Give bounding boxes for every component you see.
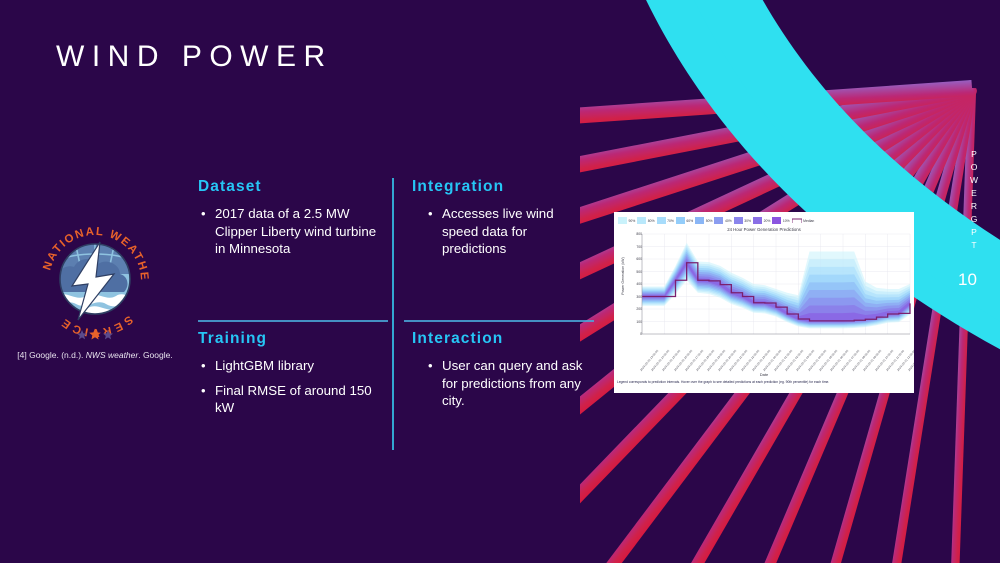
logo-citation-caption: [4] Google. (n.d.). NWS weather. Google. — [14, 349, 176, 361]
legend-swatch — [753, 217, 762, 224]
brand-letter: O — [966, 161, 982, 174]
quadrant-heading-integration: Integration — [412, 178, 590, 196]
median-line-icon — [792, 218, 802, 224]
bullet-list-dataset: • 2017 data of a 2.5 MW Clipper Liberty … — [198, 205, 384, 258]
chart-y-tick: 800 — [616, 232, 642, 236]
legend-swatch — [637, 217, 646, 224]
quadrant-interaction: Interaction • User can query and ask for… — [404, 330, 590, 417]
chart-y-tick: 600 — [616, 257, 642, 261]
horizontal-divider-left — [198, 320, 388, 322]
list-item: • Accesses live wind speed data for pred… — [404, 205, 590, 258]
vertical-divider — [392, 178, 394, 450]
chart-legend: 90%80%70%60%50%40%30%20%10%Median — [618, 215, 910, 226]
brand-letter: T — [966, 239, 982, 252]
brand-letter: G — [966, 213, 982, 226]
chart-y-tick: 500 — [616, 270, 642, 274]
legend-label: Median — [803, 219, 814, 223]
chart-y-tick: 0 — [616, 332, 642, 336]
legend-item: 80% — [637, 217, 654, 224]
legend-item: 10% — [772, 217, 789, 224]
legend-label: 30% — [744, 219, 751, 223]
quadrant-heading-dataset: Dataset — [198, 178, 384, 196]
bullet-icon: • — [428, 205, 433, 223]
bullet-text: LightGBM library — [215, 358, 314, 373]
slide-canvas: P O W E R G P T 10 WIND POWER — [0, 0, 1000, 563]
legend-label: 50% — [706, 219, 713, 223]
bullet-list-training: • LightGBM library • Final RMSE of aroun… — [198, 357, 384, 417]
list-item: • LightGBM library — [198, 357, 384, 375]
bullet-icon: • — [201, 205, 206, 223]
legend-swatch — [714, 217, 723, 224]
legend-item: 70% — [657, 217, 674, 224]
chart-y-tick: 400 — [616, 282, 642, 286]
bullet-icon: • — [201, 382, 206, 400]
brand-letter: R — [966, 200, 982, 213]
bullet-icon: • — [428, 357, 433, 375]
legend-item: 90% — [618, 217, 635, 224]
bullet-text: Final RMSE of around 150 kW — [215, 383, 372, 416]
quadrant-heading-interaction: Interaction — [412, 330, 590, 348]
legend-swatch — [618, 217, 627, 224]
nws-logo-block: NATIONAL WEATHER SERVICE [4] Google. (n.… — [14, 222, 176, 361]
legend-item: 20% — [753, 217, 770, 224]
brand-letter: W — [966, 174, 982, 187]
bullet-text: User can query and ask for predictions f… — [442, 358, 582, 408]
chart-y-tick: 100 — [616, 320, 642, 324]
chart-screenshot: 90%80%70%60%50%40%30%20%10%Median 24 Hou… — [614, 212, 914, 393]
brand-letter: P — [966, 148, 982, 161]
legend-label: 60% — [686, 219, 693, 223]
quadrant-integration: Integration • Accesses live wind speed d… — [404, 178, 590, 265]
chart-plot-area — [614, 230, 914, 338]
legend-swatch — [734, 217, 743, 224]
legend-item: 60% — [676, 217, 693, 224]
quadrant-grid: Dataset • 2017 data of a 2.5 MW Clipper … — [190, 178, 594, 450]
horizontal-divider-right — [404, 320, 594, 322]
bullet-list-interaction: • User can query and ask for predictions… — [404, 357, 590, 410]
list-item: • User can query and ask for predictions… — [404, 357, 590, 410]
legend-label: 10% — [783, 219, 790, 223]
citation-suffix: . Google. — [138, 350, 173, 360]
list-item: • 2017 data of a 2.5 MW Clipper Liberty … — [198, 205, 384, 258]
legend-label: 70% — [667, 219, 674, 223]
chart-footnote: Legend corresponds to prediction interva… — [617, 380, 907, 384]
legend-item: Median — [792, 218, 815, 224]
chart-x-tick-labels: 2024-02-20 13:00:002024-02-20 14:00:0020… — [642, 336, 910, 372]
quadrant-dataset: Dataset • 2017 data of a 2.5 MW Clipper … — [198, 178, 384, 265]
chart-y-tick: 200 — [616, 307, 642, 311]
legend-swatch — [657, 217, 666, 224]
legend-label: 90% — [629, 219, 636, 223]
bullet-text: Accesses live wind speed data for predic… — [442, 206, 554, 256]
page-number: 10 — [958, 270, 977, 290]
legend-label: 80% — [648, 219, 655, 223]
chart-x-axis-label: Date — [614, 372, 914, 377]
chart-y-tick: 300 — [616, 295, 642, 299]
brand-letter: P — [966, 226, 982, 239]
brand-vertical-label: P O W E R G P T — [966, 148, 982, 252]
citation-title: NWS weather — [86, 350, 138, 360]
legend-swatch — [772, 217, 781, 224]
legend-item: 40% — [714, 217, 731, 224]
legend-swatch — [695, 217, 704, 224]
bullet-icon: • — [201, 357, 206, 375]
bullet-list-integration: • Accesses live wind speed data for pred… — [404, 205, 590, 258]
legend-label: 20% — [764, 219, 771, 223]
bullet-text: 2017 data of a 2.5 MW Clipper Liberty wi… — [215, 206, 376, 256]
quadrant-heading-training: Training — [198, 330, 384, 348]
quadrant-training: Training • LightGBM library • Final RMSE… — [198, 330, 384, 424]
page-title: WIND POWER — [56, 40, 333, 74]
citation-prefix: [4] Google. (n.d.). — [17, 350, 86, 360]
legend-swatch — [676, 217, 685, 224]
legend-label: 40% — [725, 219, 732, 223]
legend-item: 30% — [734, 217, 751, 224]
legend-item: 50% — [695, 217, 712, 224]
list-item: • Final RMSE of around 150 kW — [198, 382, 384, 417]
nws-seal-icon: NATIONAL WEATHER SERVICE — [36, 222, 154, 340]
chart-y-tick: 700 — [616, 245, 642, 249]
brand-letter: E — [966, 187, 982, 200]
